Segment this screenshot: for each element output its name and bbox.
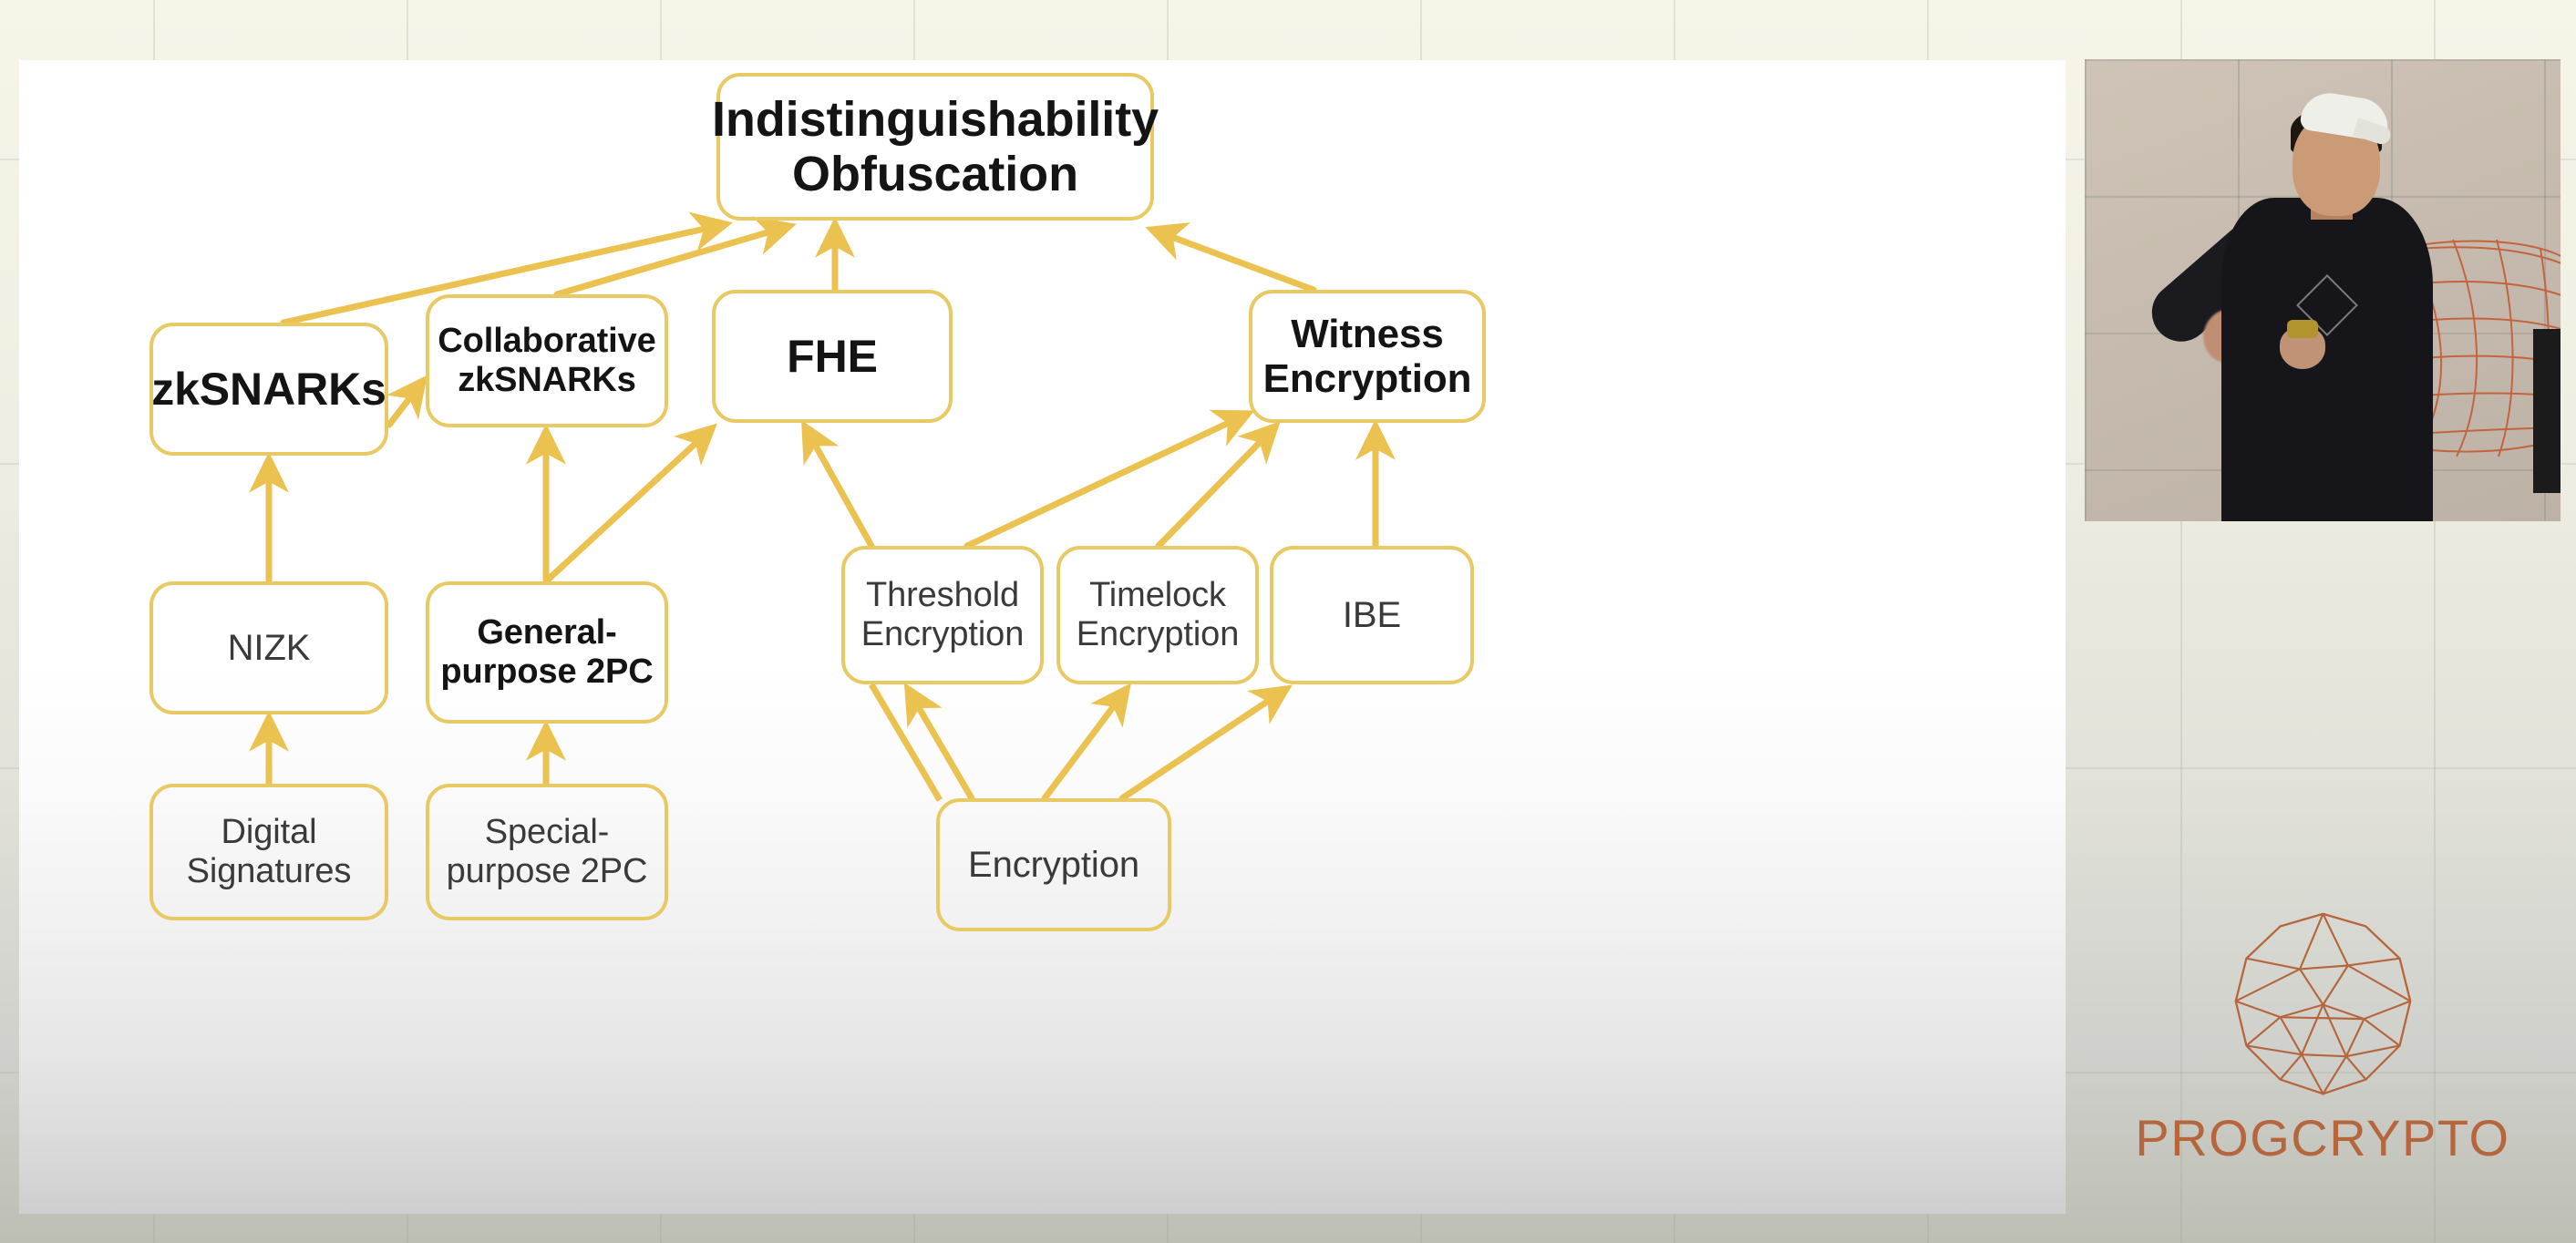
- diagram-node-thr: Threshold Encryption: [841, 546, 1044, 684]
- presentation-slide: Indistinguishability ObfuscationzkSNARKs…: [19, 60, 2066, 1214]
- diagram-node-label: Encryption: [968, 845, 1139, 886]
- edge-stub-threshold-encryption: [871, 684, 940, 800]
- diagram-node-label: Collaborative zkSNARKs: [438, 322, 655, 399]
- diagram-node-label: Special-purpose 2PC: [438, 813, 655, 890]
- edge-zksnarks-to-collab: [389, 381, 423, 425]
- edge-threshold-to-we: [967, 414, 1248, 546]
- diagram-node-label: Digital Signatures: [162, 813, 376, 890]
- speaker-torso: [2221, 198, 2433, 521]
- diagram-node-nizk: NIZK: [149, 581, 388, 714]
- diagram-node-enc: Encryption: [936, 798, 1171, 931]
- edge-enc-to-timelock: [1045, 689, 1127, 798]
- edge-gp2pc-to-fhe: [546, 428, 712, 581]
- diagram-node-ibe: IBE: [1270, 546, 1474, 684]
- diagram-node-gp2pc: General-purpose 2PC: [426, 581, 668, 724]
- diagram-node-dsig: Digital Signatures: [149, 784, 388, 920]
- diagram-node-label: Witness Encryption: [1262, 312, 1473, 402]
- diagram-node-label: Indistinguishability Obfuscation: [712, 92, 1159, 202]
- edge-threshold-to-fhe: [805, 426, 871, 546]
- progcrypto-globe-icon: [2225, 907, 2421, 1103]
- diagram-node-label: NIZK: [228, 628, 311, 669]
- edge-enc-to-threshold: [908, 689, 972, 798]
- diagram-node-label: General-purpose 2PC: [438, 613, 655, 691]
- diagram-node-io: Indistinguishability Obfuscation: [716, 73, 1154, 221]
- diagram-node-collab: Collaborative zkSNARKs: [426, 294, 668, 427]
- edge-we-to-io: [1152, 230, 1314, 290]
- diagram-node-zksnarks: zkSNARKs: [149, 323, 388, 456]
- presentation-clicker: [2287, 320, 2318, 338]
- stage-speaker-cabinet: [2533, 329, 2561, 493]
- diagram-node-tlock: Timelock Encryption: [1056, 546, 1259, 684]
- diagram-node-label: FHE: [787, 331, 878, 382]
- speaker-camera-feed: [2085, 59, 2561, 521]
- diagram-node-label: IBE: [1343, 595, 1401, 636]
- diagram-node-we: Witness Encryption: [1249, 290, 1486, 423]
- diagram-node-fhe: FHE: [712, 290, 953, 423]
- diagram-node-label: zkSNARKs: [151, 364, 386, 415]
- diagram-node-label: Threshold Encryption: [854, 576, 1031, 653]
- diagram-node-sp2pc: Special-purpose 2PC: [426, 784, 668, 920]
- diagram-node-label: Timelock Encryption: [1069, 576, 1246, 653]
- edge-enc-to-ibe: [1122, 689, 1286, 798]
- screen-capture-stage: Indistinguishability ObfuscationzkSNARKs…: [0, 0, 2576, 1243]
- progcrypto-brand-lockup: PROGCRYPTO: [2085, 907, 2561, 1207]
- progcrypto-wordmark: PROGCRYPTO: [2135, 1108, 2509, 1167]
